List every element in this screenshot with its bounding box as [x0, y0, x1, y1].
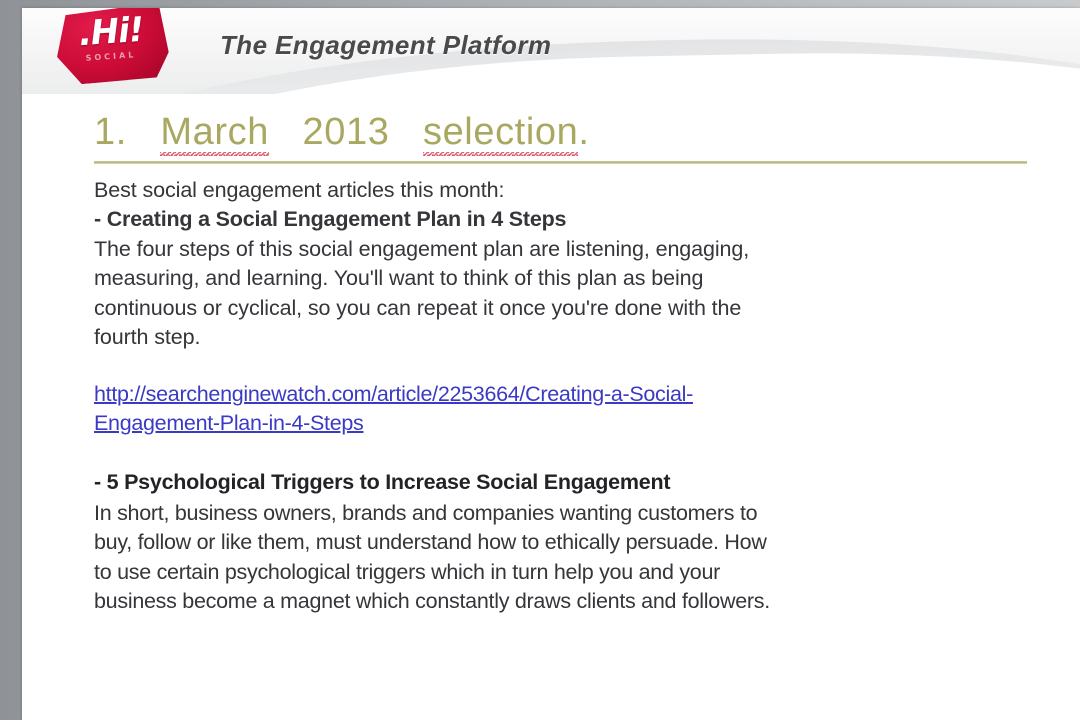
article-1-summary-line-2: measuring, and learning. You'll want to … — [94, 264, 1044, 294]
article-2-summary: In short, business owners, brands and co… — [94, 499, 1044, 617]
hi-social-logo[interactable]: .Hi! SOCIAL — [54, 8, 168, 82]
intro-and-article-1: Best social engagement articles this mon… — [94, 176, 1044, 353]
article-2-summary-line-1: In short, business owners, brands and co… — [94, 499, 1044, 529]
page-title: 1. March 2013 selection. — [94, 110, 1044, 155]
title-number: 1. — [94, 111, 127, 153]
article-1-link-line-1[interactable]: http://searchenginewatch.com/article/225… — [94, 380, 693, 409]
title-word-selection: selection — [423, 110, 578, 155]
article-1-summary-line-1: The four steps of this social engagement… — [94, 235, 1044, 265]
article-2-heading: - 5 Psychological Triggers to Increase S… — [94, 468, 1044, 497]
article-2-summary-line-2: buy, follow or like them, must understan… — [94, 528, 1044, 558]
title-word-march: March — [160, 110, 269, 155]
document-body: 1. March 2013 selection. Best social eng… — [22, 94, 1080, 617]
title-period: . — [578, 111, 589, 153]
title-divider-rule — [94, 161, 1027, 164]
article-2-summary-line-3: to use certain psychological triggers wh… — [94, 558, 1044, 588]
header-tagline: The Engagement Platform — [220, 30, 551, 61]
article-1-heading: - Creating a Social Engagement Plan in 4… — [94, 205, 1044, 235]
article-1-link[interactable]: http://searchenginewatch.com/article/225… — [94, 380, 1044, 438]
article-2-summary-line-4: business become a magnet which constantl… — [94, 587, 1044, 617]
page-header: .Hi! SOCIAL The Engagement Platform — [22, 8, 1080, 94]
article-2: - 5 Psychological Triggers to Increase S… — [94, 468, 1044, 617]
title-year: 2013 — [303, 111, 390, 153]
screen-viewport: .Hi! SOCIAL The Engagement Platform 1. M… — [0, 0, 1080, 720]
article-1-summary-line-4: fourth step. — [94, 323, 1044, 353]
article-1-summary-line-3: continuous or cyclical, so you can repea… — [94, 294, 1044, 324]
article-1-link-line-2[interactable]: Engagement-Plan-in-4-Steps — [94, 409, 363, 438]
intro-line: Best social engagement articles this mon… — [94, 176, 1044, 206]
document-slide: .Hi! SOCIAL The Engagement Platform 1. M… — [22, 8, 1080, 720]
